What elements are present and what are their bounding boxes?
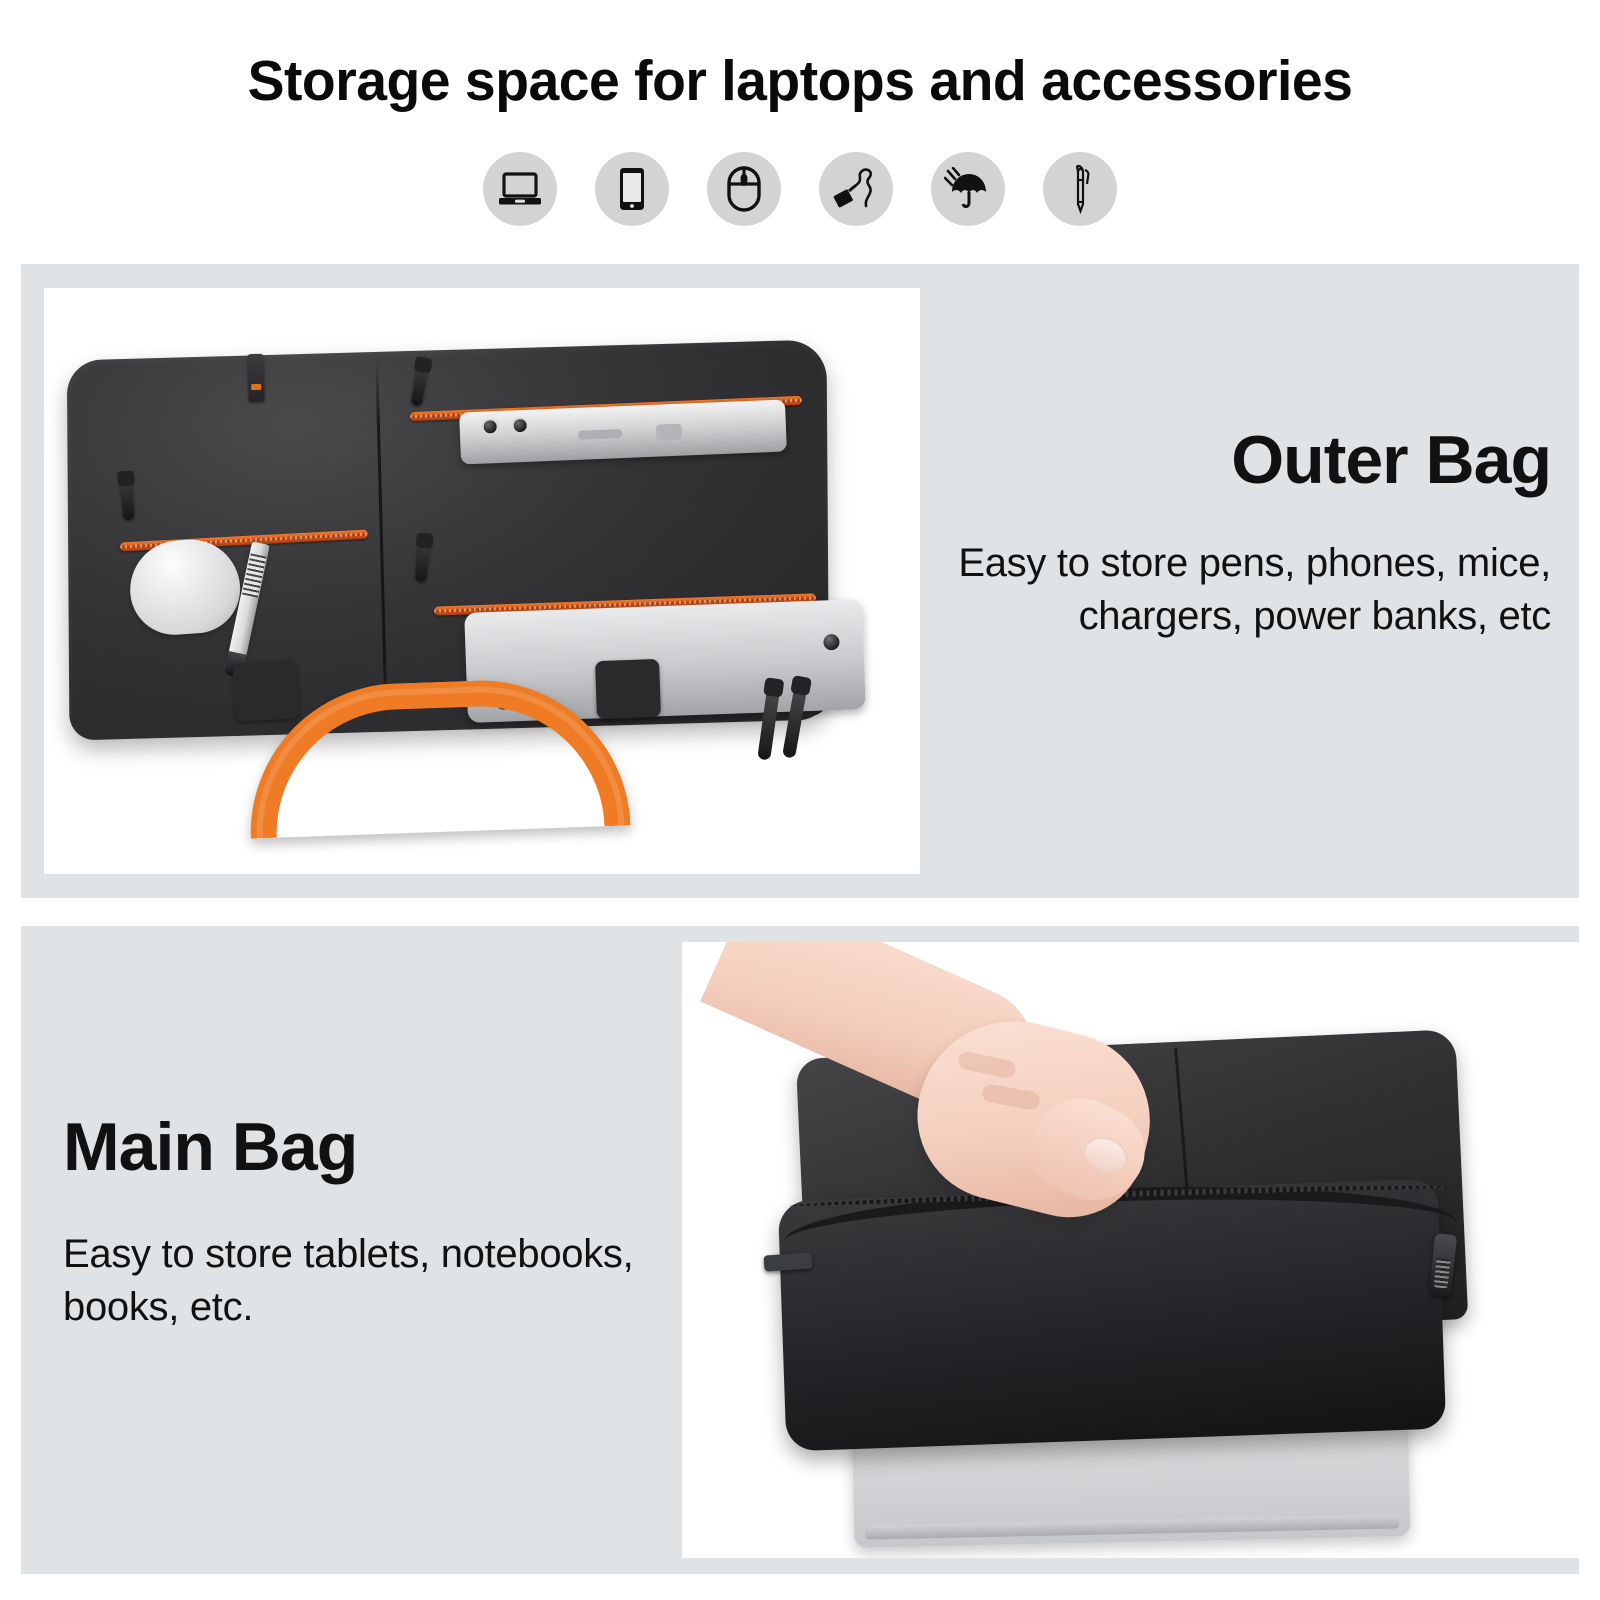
brand-label-tag xyxy=(247,354,264,402)
main-bag-heading: Main Bag xyxy=(63,1111,663,1184)
outer-bag-photo xyxy=(44,288,920,874)
hand-opening-bag xyxy=(732,952,1162,1292)
main-bag-body: Easy to store tablets, notebooks, books,… xyxy=(63,1228,663,1334)
main-bag-copy: Main Bag Easy to store tablets, notebook… xyxy=(63,1111,663,1334)
handle-keeper xyxy=(233,660,300,721)
laptop-base-edge xyxy=(865,1514,1399,1539)
section-main-bag: Main Bag Easy to store tablets, notebook… xyxy=(21,926,1579,1574)
feature-icon-row xyxy=(0,152,1600,226)
tablet-camera-lens xyxy=(823,634,840,651)
outer-bag-illustration xyxy=(62,344,862,814)
phone-side-button xyxy=(578,429,622,440)
page-title: Storage space for laptops and accessorie… xyxy=(24,48,1576,114)
phone-camera-lens xyxy=(511,417,529,435)
laptop-icon xyxy=(483,152,557,226)
main-bag-photo xyxy=(682,942,1579,1558)
outer-bag-body: Easy to store pens, phones, mice, charge… xyxy=(921,537,1551,643)
mouse-icon xyxy=(707,152,781,226)
section-outer-bag: Outer Bag Easy to store pens, phones, mi… xyxy=(21,264,1579,898)
charger-cable-icon xyxy=(819,152,893,226)
main-bag-illustration xyxy=(742,982,1522,1552)
infographic-page: Storage space for laptops and accessorie… xyxy=(0,0,1600,1600)
outer-bag-heading: Outer Bag xyxy=(921,424,1551,497)
outer-bag-copy: Outer Bag Easy to store pens, phones, mi… xyxy=(921,424,1551,643)
phone-camera-lens xyxy=(481,418,499,436)
handle-keeper xyxy=(595,659,661,719)
umbrella-icon xyxy=(931,152,1005,226)
pen-icon xyxy=(1043,152,1117,226)
phone-side-button xyxy=(656,424,683,441)
smartphone-icon xyxy=(595,152,669,226)
